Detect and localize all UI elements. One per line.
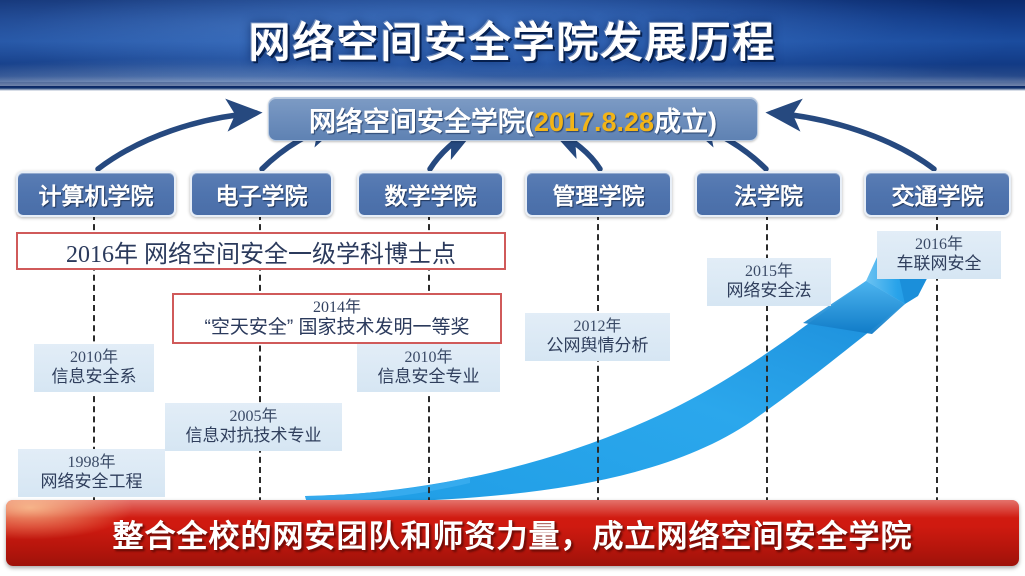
dept-box-math[interactable]: 数学学院	[357, 171, 504, 217]
event-box-2010-infosec-major[interactable]: 2010年 信息安全专业	[357, 344, 500, 392]
event-year: 1998年	[67, 454, 115, 472]
central-college-label: 网络空间安全学院(2017.8.28成立)	[309, 100, 717, 139]
college-name-suffix: 成立)	[654, 107, 717, 137]
college-name-prefix: 网络空间安全学院(	[309, 107, 534, 137]
dept-label-computer: 计算机学院	[39, 177, 154, 211]
bottom-banner: 整合全校的网安团队和师资力量，成立网络空间安全学院	[6, 500, 1019, 566]
event-name: 网络安全法	[727, 281, 812, 301]
arrow-from-transport	[772, 113, 934, 169]
dept-label-management: 管理学院	[553, 177, 645, 211]
event-name: 信息安全系	[52, 367, 137, 387]
event-year: 2010年	[70, 349, 118, 367]
event-year: 2012年	[573, 318, 621, 336]
event-name: 信息对抗技术专业	[186, 426, 322, 446]
event-name: 公网舆情分析	[547, 336, 649, 356]
event-year: 2005年	[229, 408, 277, 426]
event-name: 信息安全专业	[378, 367, 480, 387]
bottom-banner-text: 整合全校的网安团队和师资力量，成立网络空间安全学院	[113, 511, 913, 556]
page-title: 网络空间安全学院发展历程	[0, 14, 1025, 72]
event-box-2012-public-opinion[interactable]: 2012年 公网舆情分析	[525, 313, 670, 361]
dept-box-law[interactable]: 法学院	[695, 171, 842, 217]
milestone-box-2014-award[interactable]: 2014年 “空天安全” 国家技术发明一等奖	[172, 293, 502, 344]
milestone-text-2014-award: “空天安全” 国家技术发明一等奖	[205, 317, 470, 339]
college-founding-date: 2017.8.28	[534, 107, 654, 137]
dept-box-electronics[interactable]: 电子学院	[190, 171, 333, 217]
dept-box-transport[interactable]: 交通学院	[864, 171, 1011, 217]
event-year: 2015年	[745, 263, 793, 281]
dept-label-electronics: 电子学院	[216, 177, 308, 211]
event-name: 网络安全工程	[41, 472, 143, 492]
event-year: 2016年	[915, 236, 963, 254]
event-box-2005-counter-tech-major[interactable]: 2005年 信息对抗技术专业	[165, 403, 342, 451]
milestone-year-2014: 2014年	[313, 299, 361, 317]
arrow-from-computer	[98, 113, 256, 169]
central-college-box[interactable]: 网络空间安全学院(2017.8.28成立)	[268, 97, 758, 141]
dept-label-law: 法学院	[734, 177, 803, 211]
event-name: 车联网安全	[897, 254, 982, 274]
milestone-box-2016-phd[interactable]: 2016年 网络空间安全一级学科博士点	[16, 232, 506, 270]
title-bar: 网络空间安全学院发展历程	[0, 0, 1025, 86]
slide-canvas: 网络空间安全学院发展历程	[0, 0, 1025, 576]
dept-box-computer[interactable]: 计算机学院	[16, 171, 176, 217]
dept-label-transport: 交通学院	[892, 177, 984, 211]
dept-box-management[interactable]: 管理学院	[525, 171, 672, 217]
milestone-text-2016-phd: 2016年 网络空间安全一级学科博士点	[66, 234, 456, 269]
event-year: 2010年	[404, 349, 452, 367]
event-box-2010-infosec-dept[interactable]: 2010年 信息安全系	[34, 344, 154, 392]
event-box-1998-netsec-engineering[interactable]: 1998年 网络安全工程	[18, 449, 165, 497]
dept-label-math: 数学学院	[385, 177, 477, 211]
event-box-2016-iov-security[interactable]: 2016年 车联网安全	[877, 231, 1001, 279]
event-box-2015-cybersecurity-law[interactable]: 2015年 网络安全法	[707, 258, 831, 306]
